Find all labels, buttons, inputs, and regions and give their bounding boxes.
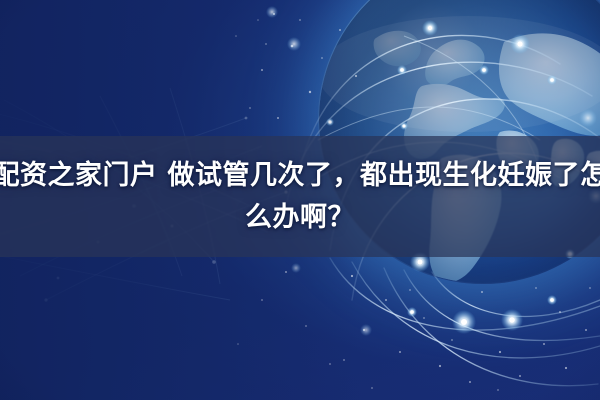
caption-line-2: 么办啊？ [245, 197, 355, 239]
caption-line-1: 配资之家门户 做试管几次了，都出现生化妊娠了怎 [0, 155, 600, 197]
banner-image: 配资之家门户 做试管几次了，都出现生化妊娠了怎 么办啊？ [0, 0, 600, 400]
banner-caption: 配资之家门户 做试管几次了，都出现生化妊娠了怎 么办啊？ [0, 136, 600, 257]
